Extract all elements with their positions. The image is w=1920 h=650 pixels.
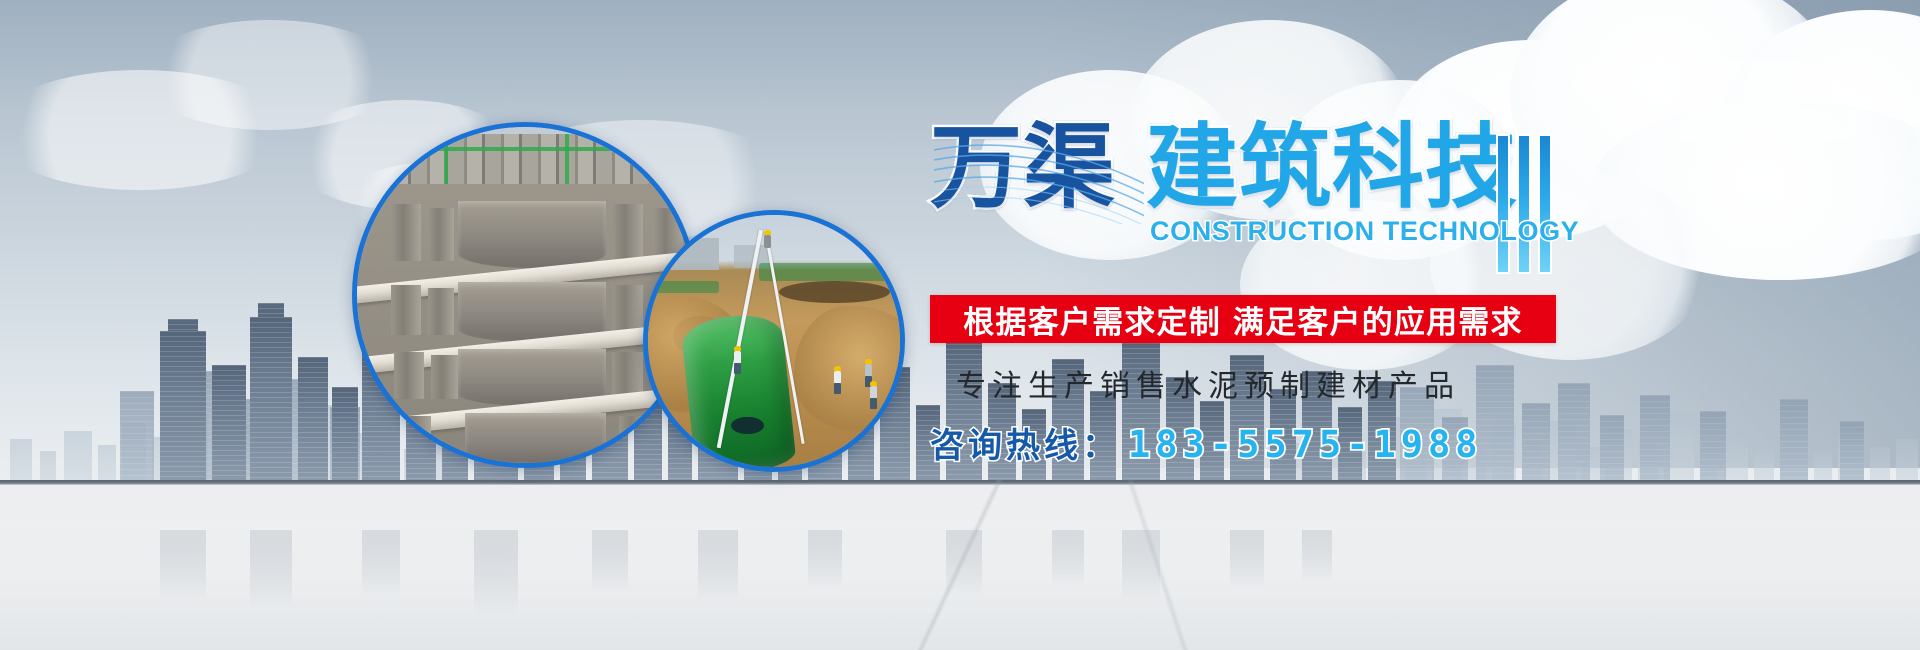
plain-slogan-text: 专注生产销售水泥预制建材产品 xyxy=(956,361,1460,405)
precast-pier xyxy=(391,285,421,335)
excavation-site-scene xyxy=(648,215,900,467)
green-safety-net xyxy=(759,263,890,281)
precast-pier xyxy=(619,416,649,463)
red-slogan-bar: 根据客户需求定制 满足客户的应用需求 xyxy=(930,295,1556,343)
tank-manhole-icon xyxy=(731,417,764,435)
precast-pier xyxy=(612,204,642,261)
septic-tank-installation-photo xyxy=(643,210,905,472)
site-building xyxy=(663,238,718,271)
brand-name-part1: 万渠 xyxy=(930,118,1116,218)
precast-stack-scene xyxy=(357,127,693,463)
three-vertical-bars-icon xyxy=(1496,134,1552,274)
brand-name-part2: 建筑科技 xyxy=(1146,118,1518,218)
soil-mound xyxy=(794,306,905,432)
brand-title: 万渠 建筑科技 xyxy=(930,118,1610,230)
precast-pier xyxy=(394,352,424,399)
precast-pier xyxy=(391,204,421,261)
precast-curved-unit xyxy=(465,413,606,463)
precast-pier xyxy=(431,355,458,399)
precast-pier xyxy=(428,208,455,262)
precast-pier xyxy=(401,416,431,463)
green-strap xyxy=(444,134,448,184)
banner-copy: 万渠 建筑科技 xyxy=(930,118,1610,230)
precast-concrete-stacks-photo xyxy=(352,122,698,468)
green-strap xyxy=(352,147,698,151)
trench-shadow xyxy=(779,281,890,304)
promo-banner: 万渠 建筑科技 xyxy=(0,0,1920,650)
hotline-number[interactable]: 183-5575-1988 xyxy=(1128,423,1483,466)
brand-subtitle-en: CONSTRUCTION TECHNOLOGY xyxy=(1150,216,1579,247)
precast-curved-unit xyxy=(458,201,606,268)
precast-pier xyxy=(428,288,455,335)
hotline-block: 咨询热线： 183-5575-1988 xyxy=(930,418,1483,467)
pavement-seam-lines xyxy=(0,480,1920,650)
green-strap xyxy=(565,134,569,184)
red-slogan-text: 根据客户需求定制 满足客户的应用需求 xyxy=(963,297,1522,342)
green-safety-net xyxy=(653,281,719,294)
concrete-block-row xyxy=(352,134,698,184)
hotline-label: 咨询热线： xyxy=(930,418,1120,467)
